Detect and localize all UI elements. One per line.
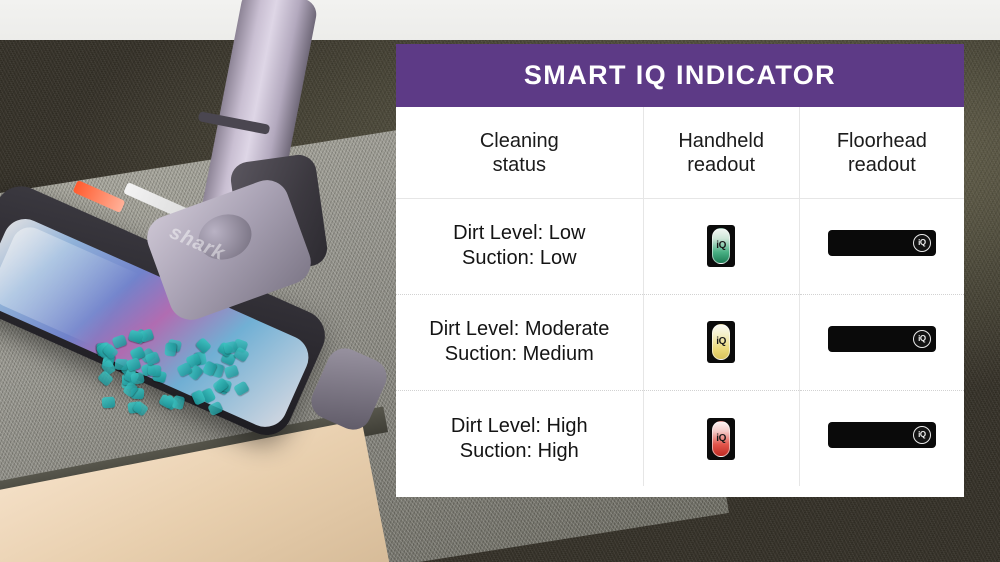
iq-pill-label: iQ — [716, 434, 726, 444]
iq-pill-icon: iQ — [707, 418, 735, 460]
smart-iq-indicator-card: SMART IQ INDICATOR Cleaning status Handh… — [396, 44, 964, 497]
cell-floorhead-readout: iQ — [799, 390, 964, 486]
cell-handheld-readout: iQ — [643, 390, 799, 486]
table-header-row: Cleaning status Handheld readout Floorhe… — [396, 107, 964, 198]
column-header-cleaning-status: Cleaning status — [396, 107, 643, 198]
cell-cleaning-status: Dirt Level: Low Suction: Low — [396, 198, 643, 294]
iq-pill-body: iQ — [712, 421, 730, 457]
iq-pill-body: iQ — [712, 228, 730, 264]
iq-bar-badge: iQ — [913, 330, 931, 348]
cell-cleaning-status: Dirt Level: Moderate Suction: Medium — [396, 294, 643, 390]
iq-bar-badge: iQ — [913, 426, 931, 444]
iq-pill-body: iQ — [712, 324, 730, 360]
table-row: Dirt Level: Low Suction: Low iQ iQ — [396, 198, 964, 294]
iq-pill-label: iQ — [716, 241, 726, 251]
iq-bar-icon: iQ — [828, 422, 936, 448]
iq-bar-icon: iQ — [828, 230, 936, 256]
carpet-debris — [92, 330, 262, 416]
column-header-handheld-readout: Handheld readout — [643, 107, 799, 198]
column-header-floorhead-readout: Floorhead readout — [799, 107, 964, 198]
screenshot-root: shark SMART IQ INDICATOR Cleaning status… — [0, 0, 1000, 562]
cell-floorhead-readout: iQ — [799, 294, 964, 390]
cell-handheld-readout: iQ — [643, 294, 799, 390]
iq-pill-label: iQ — [716, 337, 726, 347]
table-row: Dirt Level: High Suction: High iQ iQ — [396, 390, 964, 486]
card-header: SMART IQ INDICATOR — [396, 44, 964, 107]
cell-floorhead-readout: iQ — [799, 198, 964, 294]
iq-pill-icon: iQ — [707, 321, 735, 363]
smart-iq-table: Cleaning status Handheld readout Floorhe… — [396, 107, 964, 486]
cell-handheld-readout: iQ — [643, 198, 799, 294]
iq-bar-icon: iQ — [828, 326, 936, 352]
table-row: Dirt Level: Moderate Suction: Medium iQ … — [396, 294, 964, 390]
page-title: SMART IQ INDICATOR — [524, 60, 836, 91]
cell-cleaning-status: Dirt Level: High Suction: High — [396, 390, 643, 486]
iq-bar-badge: iQ — [913, 234, 931, 252]
iq-pill-icon: iQ — [707, 225, 735, 267]
